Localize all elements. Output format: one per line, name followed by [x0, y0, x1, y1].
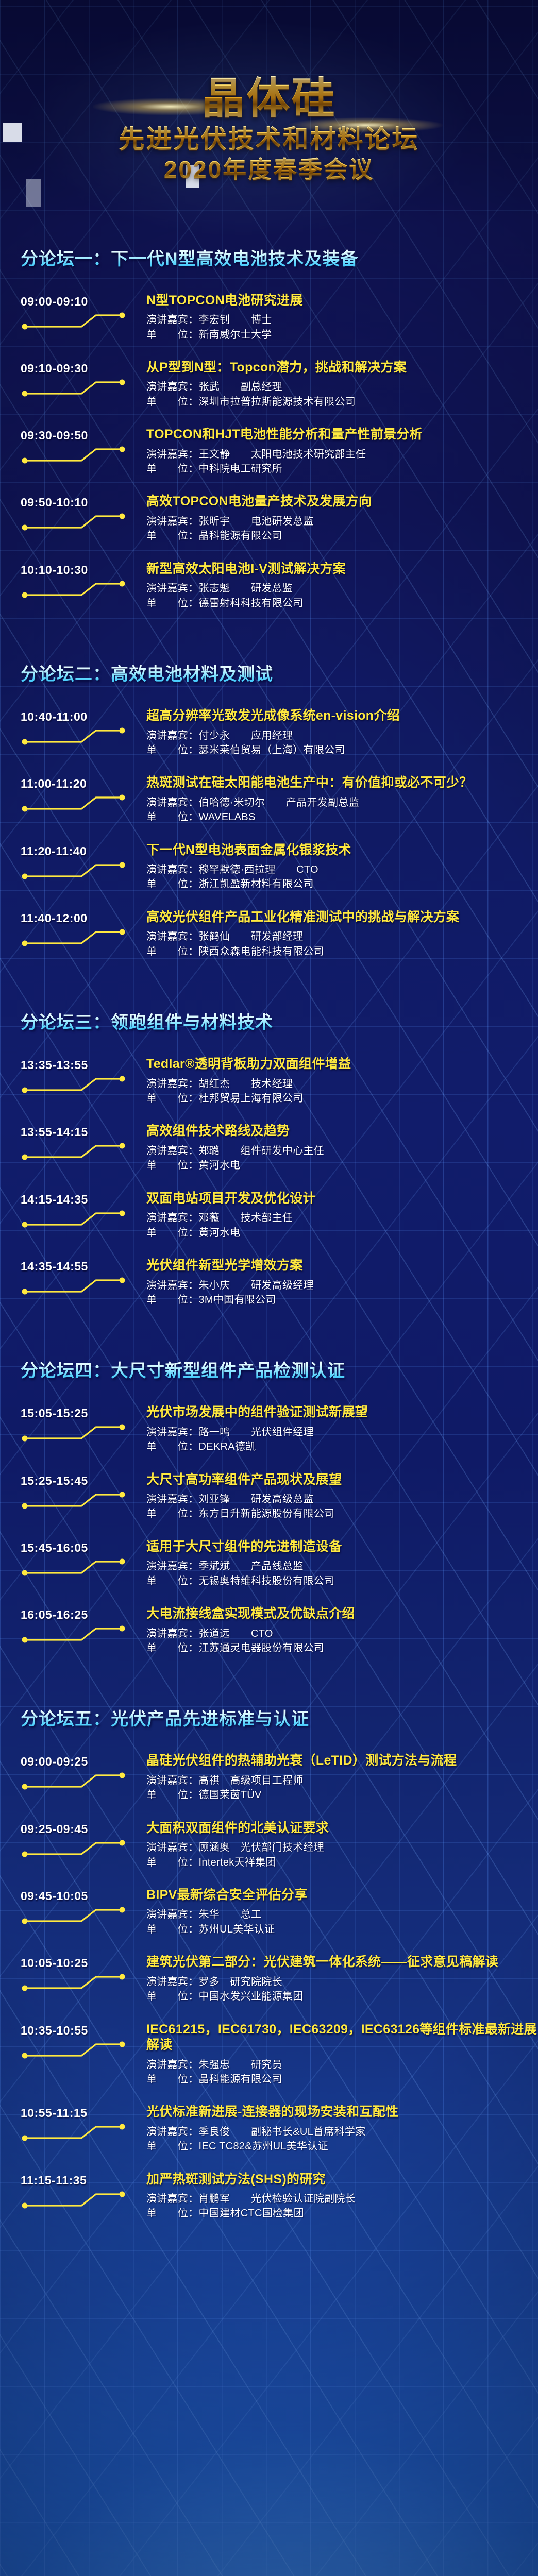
session-body: BIPV最新综合安全评估分享演讲嘉宾：朱华 总工单 位：苏州UL美华认证: [139, 1887, 538, 1937]
session-speaker: 演讲嘉宾：朱华 总工: [146, 1907, 538, 1922]
session-body: 高效光伏组件产品工业化精准测试中的挑战与解决方案演讲嘉宾：张鹤仙 研发部经理单 …: [139, 909, 538, 959]
session-time: 10:55-11:15: [21, 2104, 139, 2120]
session-speaker: 演讲嘉宾：伯哈德·米切尔 产品开发副总监: [146, 795, 538, 810]
session-meta: 演讲嘉宾：郑璐 组件研发中心主任单 位：黄河水电: [146, 1144, 538, 1173]
session-meta: 演讲嘉宾：罗多 研究院院长单 位：中国水发兴业能源集团: [146, 1975, 538, 2004]
session-speaker: 演讲嘉宾：穆罕默德·西拉理 CTO: [146, 862, 538, 877]
session-meta: 演讲嘉宾：付少永 应用经理单 位：瑟米莱伯贸易（上海）有限公司: [146, 728, 538, 758]
session-meta: 演讲嘉宾：季良俊 副秘书长&UL首席科学家单 位：IEC TC82&苏州UL美华…: [146, 2125, 538, 2154]
session-item[interactable]: 09:00-09:25晶硅光伏组件的热辅助光衰（LeTID）测试方法与流程演讲嘉…: [0, 1753, 538, 1802]
session-meta: 演讲嘉宾：肖鹏军 光伏检验认证院副院长单 位：中国建材CTC国检集团: [146, 2192, 538, 2221]
session-meta: 演讲嘉宾：朱小庆 研发高级经理单 位：3M中国有限公司: [146, 1278, 538, 1308]
session-speaker: 演讲嘉宾：季良俊 副秘书长&UL首席科学家: [146, 2125, 538, 2139]
session-time: 15:25-15:45: [21, 1472, 139, 1488]
session-organization: 单 位：WAVELABS: [146, 810, 538, 824]
session-speaker: 演讲嘉宾：李宏钊 博士: [146, 313, 538, 327]
session-time: 13:35-13:55: [21, 1056, 139, 1072]
session-body: 高效组件技术路线及趋势演讲嘉宾：郑璐 组件研发中心主任单 位：黄河水电: [139, 1123, 538, 1173]
session-meta: 演讲嘉宾：王文静 太阳电池技术研究部主任单 位：中科院电工研究所: [146, 447, 538, 477]
session-title: 高效光伏组件产品工业化精准测试中的挑战与解决方案: [146, 909, 538, 925]
session-title: 超高分辨率光致发光成像系统en-vision介绍: [146, 708, 538, 724]
session-time: 11:00-11:20: [21, 775, 139, 791]
session-title: 从P型到N型：Topcon潜力，挑战和解决方案: [146, 360, 538, 376]
session-title: 加严热斑测试方法(SHS)的研究: [146, 2172, 538, 2188]
session-time: 09:30-09:50: [21, 427, 139, 443]
session-item[interactable]: 09:25-09:45大面积双面组件的北美认证要求演讲嘉宾：顾涵奥 光伏部门技术…: [0, 1820, 538, 1870]
session-meta: 演讲嘉宾：张道远 CTO单 位：江苏通灵电器股份有限公司: [146, 1626, 538, 1656]
session-item[interactable]: 15:45-16:05适用于大尺寸组件的先进制造设备演讲嘉宾：季斌斌 产品线总监…: [0, 1539, 538, 1588]
session-item[interactable]: 15:25-15:45大尺寸高功率组件产品现状及展望演讲嘉宾：刘亚锋 研发高级总…: [0, 1472, 538, 1521]
session-body: 建筑光伏第二部分：光伏建筑一体化系统——征求意见稿解读演讲嘉宾：罗多 研究院院长…: [139, 1954, 538, 2004]
session-meta: 演讲嘉宾：高祺 高级项目工程师单 位：德国莱茵TÜV: [146, 1773, 538, 1803]
session-time: 11:40-12:00: [21, 909, 139, 925]
session-speaker: 演讲嘉宾：王文静 太阳电池技术研究部主任: [146, 447, 538, 462]
session-body: 下一代N型电池表面金属化银浆技术演讲嘉宾：穆罕默德·西拉理 CTO单 位：浙江凯…: [139, 842, 538, 892]
session-body: TOPCON和HJT电池性能分析和量产性前景分析演讲嘉宾：王文静 太阳电池技术研…: [139, 427, 538, 476]
session-body: 新型高效太阳电池I-V测试解决方案演讲嘉宾：张志魁 研发总监单 位：德雷射科科技…: [139, 561, 538, 611]
session-title: 新型高效太阳电池I-V测试解决方案: [146, 561, 538, 577]
session-item[interactable]: 09:45-10:05BIPV最新综合安全评估分享演讲嘉宾：朱华 总工单 位：苏…: [0, 1887, 538, 1937]
session-speaker: 演讲嘉宾：路一鸣 光伏组件经理: [146, 1425, 538, 1439]
session-title: 下一代N型电池表面金属化银浆技术: [146, 842, 538, 858]
session-item[interactable]: 14:15-14:35双面电站项目开发及优化设计演讲嘉宾：邓薇 技术部主任单 位…: [0, 1191, 538, 1240]
session-time: 10:05-10:25: [21, 1954, 139, 1970]
session-item[interactable]: 13:35-13:55Tedlar®透明背板助力双面组件增益演讲嘉宾：胡红杰 技…: [0, 1056, 538, 1106]
session-item[interactable]: 10:10-10:30新型高效太阳电池I-V测试解决方案演讲嘉宾：张志魁 研发总…: [0, 561, 538, 611]
agenda-list: 分论坛一：下一代N型高效电池技术及装备09:00-09:10N型TOPCON电池…: [0, 245, 538, 2221]
session-title: 高效TOPCON电池量产技术及发展方向: [146, 494, 538, 510]
session-time: 09:10-09:30: [21, 360, 139, 376]
session-body: IEC61215，IEC61730，IEC63209，IEC63126等组件标准…: [139, 2022, 538, 2087]
session-meta: 演讲嘉宾：顾涵奥 光伏部门技术经理单 位：Intertek天祥集团: [146, 1840, 538, 1870]
session-organization: 单 位：杜邦贸易上海有限公司: [146, 1091, 538, 1106]
forum-heading-1: 分论坛一：下一代N型高效电池技术及装备: [21, 245, 538, 270]
session-organization: 单 位：DEKRA德凯: [146, 1439, 538, 1454]
session-organization: 单 位：黄河水电: [146, 1158, 538, 1173]
session-speaker: 演讲嘉宾：罗多 研究院院长: [146, 1975, 538, 1989]
session-meta: 演讲嘉宾：刘亚锋 研发高级总监单 位：东方日升新能源股份有限公司: [146, 1492, 538, 1521]
session-organization: 单 位：3M中国有限公司: [146, 1293, 538, 1307]
session-title: TOPCON和HJT电池性能分析和量产性前景分析: [146, 427, 538, 443]
session-organization: 单 位：浙江凯盈新材料有限公司: [146, 877, 538, 891]
poster-title-main: 晶体硅: [0, 76, 538, 121]
session-time: 11:15-11:35: [21, 2172, 139, 2188]
forum-heading-2: 分论坛二：高效电池材料及测试: [21, 660, 538, 685]
session-title: 热斑测试在硅太阳能电池生产中：有价值抑或必不可少？: [146, 775, 538, 791]
session-speaker: 演讲嘉宾：高祺 高级项目工程师: [146, 1773, 538, 1788]
session-time: 15:05-15:25: [21, 1404, 139, 1420]
session-title: 适用于大尺寸组件的先进制造设备: [146, 1539, 538, 1555]
session-time: 14:15-14:35: [21, 1191, 139, 1207]
session-item[interactable]: 13:55-14:15高效组件技术路线及趋势演讲嘉宾：郑璐 组件研发中心主任单 …: [0, 1123, 538, 1173]
forum-heading-3: 分论坛三：领跑组件与材料技术: [21, 1008, 538, 1033]
session-time: 15:45-16:05: [21, 1539, 139, 1555]
session-title: 晶硅光伏组件的热辅助光衰（LeTID）测试方法与流程: [146, 1753, 538, 1769]
session-title: 大电流接线盒实现模式及优缺点介绍: [146, 1606, 538, 1622]
session-item[interactable]: 10:55-11:15光伏标准新进展-连接器的现场安装和互配性演讲嘉宾：季良俊 …: [0, 2104, 538, 2154]
session-item[interactable]: 10:40-11:00超高分辨率光致发光成像系统en-vision介绍演讲嘉宾：…: [0, 708, 538, 757]
session-item[interactable]: 09:10-09:30从P型到N型：Topcon潜力，挑战和解决方案演讲嘉宾：张…: [0, 360, 538, 409]
session-time: 09:25-09:45: [21, 1820, 139, 1836]
session-item[interactable]: 10:05-10:25建筑光伏第二部分：光伏建筑一体化系统——征求意见稿解读演讲…: [0, 1954, 538, 2004]
session-time: 14:35-14:55: [21, 1258, 139, 1274]
session-organization: 单 位：江苏通灵电器股份有限公司: [146, 1641, 538, 1655]
session-title: BIPV最新综合安全评估分享: [146, 1887, 538, 1903]
session-organization: 单 位：新南威尔士大学: [146, 328, 538, 342]
session-meta: 演讲嘉宾：张昕宇 电池研发总监单 位：晶科能源有限公司: [146, 514, 538, 544]
session-title: N型TOPCON电池研究进展: [146, 293, 538, 309]
session-meta: 演讲嘉宾：路一鸣 光伏组件经理单 位：DEKRA德凯: [146, 1425, 538, 1454]
session-title: 建筑光伏第二部分：光伏建筑一体化系统——征求意见稿解读: [146, 1954, 538, 1970]
session-organization: 单 位：瑟米莱伯贸易（上海）有限公司: [146, 743, 538, 757]
session-body: 晶硅光伏组件的热辅助光衰（LeTID）测试方法与流程演讲嘉宾：高祺 高级项目工程…: [139, 1753, 538, 1802]
session-speaker: 演讲嘉宾：季斌斌 产品线总监: [146, 1559, 538, 1573]
session-speaker: 演讲嘉宾：刘亚锋 研发高级总监: [146, 1492, 538, 1506]
session-item[interactable]: 11:40-12:00高效光伏组件产品工业化精准测试中的挑战与解决方案演讲嘉宾：…: [0, 909, 538, 959]
session-body: 光伏市场发展中的组件验证测试新展望演讲嘉宾：路一鸣 光伏组件经理单 位：DEKR…: [139, 1404, 538, 1454]
session-body: 热斑测试在硅太阳能电池生产中：有价值抑或必不可少？演讲嘉宾：伯哈德·米切尔 产品…: [139, 775, 538, 824]
session-title: 大面积双面组件的北美认证要求: [146, 1820, 538, 1836]
session-title: 光伏标准新进展-连接器的现场安装和互配性: [146, 2104, 538, 2120]
session-body: 高效TOPCON电池量产技术及发展方向演讲嘉宾：张昕宇 电池研发总监单 位：晶科…: [139, 494, 538, 543]
session-organization: 单 位：中科院电工研究所: [146, 462, 538, 476]
session-organization: 单 位：陕西众森电能科技有限公司: [146, 944, 538, 959]
session-organization: 单 位：晶科能源有限公司: [146, 529, 538, 543]
session-organization: 单 位：晶科能源有限公司: [146, 2072, 538, 2087]
session-organization: 单 位：IEC TC82&苏州UL美华认证: [146, 2139, 538, 2154]
session-time: 09:45-10:05: [21, 1887, 139, 1903]
session-speaker: 演讲嘉宾：邓薇 技术部主任: [146, 1211, 538, 1225]
poster-content: 晶体硅 先进光伏技术和材料论坛 2020年度春季会议 分论坛一：下一代N型高效电…: [0, 0, 538, 2221]
session-speaker: 演讲嘉宾：张昕宇 电池研发总监: [146, 514, 538, 529]
session-body: N型TOPCON电池研究进展演讲嘉宾：李宏钊 博士单 位：新南威尔士大学: [139, 293, 538, 342]
session-speaker: 演讲嘉宾：张道远 CTO: [146, 1626, 538, 1641]
session-title: 光伏市场发展中的组件验证测试新展望: [146, 1404, 538, 1420]
session-organization: 单 位：东方日升新能源股份有限公司: [146, 1506, 538, 1521]
session-speaker: 演讲嘉宾：胡红杰 技术经理: [146, 1077, 538, 1091]
session-body: 光伏组件新型光学增效方案演讲嘉宾：朱小庆 研发高级经理单 位：3M中国有限公司: [139, 1258, 538, 1307]
session-speaker: 演讲嘉宾：张志魁 研发总监: [146, 581, 538, 596]
session-body: 超高分辨率光致发光成像系统en-vision介绍演讲嘉宾：付少永 应用经理单 位…: [139, 708, 538, 757]
session-body: 大尺寸高功率组件产品现状及展望演讲嘉宾：刘亚锋 研发高级总监单 位：东方日升新能…: [139, 1472, 538, 1521]
session-organization: 单 位：德国莱茵TÜV: [146, 1788, 538, 1802]
session-organization: 单 位：中国建材CTC国检集团: [146, 2206, 538, 2221]
session-speaker: 演讲嘉宾：顾涵奥 光伏部门技术经理: [146, 1840, 538, 1855]
session-time: 10:10-10:30: [21, 561, 139, 577]
session-title: 双面电站项目开发及优化设计: [146, 1191, 538, 1207]
session-speaker: 演讲嘉宾：肖鹏军 光伏检验认证院副院长: [146, 2192, 538, 2206]
session-meta: 演讲嘉宾：张武 副总经理单 位：深圳市拉普拉斯能源技术有限公司: [146, 380, 538, 409]
session-item[interactable]: 11:00-11:20热斑测试在硅太阳能电池生产中：有价值抑或必不可少？演讲嘉宾…: [0, 775, 538, 824]
session-title: Tedlar®透明背板助力双面组件增益: [146, 1056, 538, 1072]
session-item[interactable]: 15:05-15:25光伏市场发展中的组件验证测试新展望演讲嘉宾：路一鸣 光伏组…: [0, 1404, 538, 1454]
session-body: 双面电站项目开发及优化设计演讲嘉宾：邓薇 技术部主任单 位：黄河水电: [139, 1191, 538, 1240]
session-title: IEC61215，IEC61730，IEC63209，IEC63126等组件标准…: [146, 2022, 538, 2053]
session-time: 09:00-09:25: [21, 1753, 139, 1769]
session-meta: 演讲嘉宾：季斌斌 产品线总监单 位：无锡奥特维科技股份有限公司: [146, 1559, 538, 1588]
forum-heading-5: 分论坛五：光伏产品先进标准与认证: [21, 1705, 538, 1730]
session-speaker: 演讲嘉宾：郑璐 组件研发中心主任: [146, 1144, 538, 1158]
session-title: 光伏组件新型光学增效方案: [146, 1258, 538, 1274]
session-organization: 单 位：无锡奥特维科技股份有限公司: [146, 1574, 538, 1588]
session-meta: 演讲嘉宾：朱华 总工单 位：苏州UL美华认证: [146, 1907, 538, 1937]
session-body: 光伏标准新进展-连接器的现场安装和互配性演讲嘉宾：季良俊 副秘书长&UL首席科学…: [139, 2104, 538, 2154]
session-organization: 单 位：Intertek天祥集团: [146, 1855, 538, 1870]
forum-heading-4: 分论坛四：大尺寸新型组件产品检测认证: [21, 1357, 538, 1382]
session-time: 10:35-10:55: [21, 2022, 139, 2038]
session-meta: 演讲嘉宾：朱强忠 研究员单 位：晶科能源有限公司: [146, 2058, 538, 2087]
session-time: 16:05-16:25: [21, 1606, 139, 1622]
session-item[interactable]: 09:50-10:10高效TOPCON电池量产技术及发展方向演讲嘉宾：张昕宇 电…: [0, 494, 538, 543]
session-item[interactable]: 14:35-14:55光伏组件新型光学增效方案演讲嘉宾：朱小庆 研发高级经理单 …: [0, 1258, 538, 1307]
session-meta: 演讲嘉宾：胡红杰 技术经理单 位：杜邦贸易上海有限公司: [146, 1077, 538, 1106]
session-body: 大面积双面组件的北美认证要求演讲嘉宾：顾涵奥 光伏部门技术经理单 位：Inter…: [139, 1820, 538, 1870]
session-speaker: 演讲嘉宾：朱强忠 研究员: [146, 2058, 538, 2072]
poster-title-sub: 先进光伏技术和材料论坛: [0, 124, 538, 155]
session-body: 从P型到N型：Topcon潜力，挑战和解决方案演讲嘉宾：张武 副总经理单 位：深…: [139, 360, 538, 409]
session-body: Tedlar®透明背板助力双面组件增益演讲嘉宾：胡红杰 技术经理单 位：杜邦贸易…: [139, 1056, 538, 1106]
session-time: 09:50-10:10: [21, 494, 139, 510]
session-organization: 单 位：苏州UL美华认证: [146, 1922, 538, 1937]
session-speaker: 演讲嘉宾：付少永 应用经理: [146, 728, 538, 743]
session-time: 13:55-14:15: [21, 1123, 139, 1139]
session-item[interactable]: 11:20-11:40下一代N型电池表面金属化银浆技术演讲嘉宾：穆罕默德·西拉理…: [0, 842, 538, 892]
session-speaker: 演讲嘉宾：张武 副总经理: [146, 380, 538, 394]
session-item[interactable]: 09:30-09:50TOPCON和HJT电池性能分析和量产性前景分析演讲嘉宾：…: [0, 427, 538, 476]
session-body: 加严热斑测试方法(SHS)的研究演讲嘉宾：肖鹏军 光伏检验认证院副院长单 位：中…: [139, 2172, 538, 2221]
session-item[interactable]: 16:05-16:25大电流接线盒实现模式及优缺点介绍演讲嘉宾：张道远 CTO单…: [0, 1606, 538, 1655]
session-meta: 演讲嘉宾：穆罕默德·西拉理 CTO单 位：浙江凯盈新材料有限公司: [146, 862, 538, 892]
session-meta: 演讲嘉宾：李宏钊 博士单 位：新南威尔士大学: [146, 313, 538, 342]
session-organization: 单 位：深圳市拉普拉斯能源技术有限公司: [146, 395, 538, 409]
poster-title-block: 晶体硅 先进光伏技术和材料论坛 2020年度春季会议: [0, 0, 538, 184]
session-speaker: 演讲嘉宾：朱小庆 研发高级经理: [146, 1278, 538, 1293]
session-speaker: 演讲嘉宾：张鹤仙 研发部经理: [146, 929, 538, 944]
session-title: 大尺寸高功率组件产品现状及展望: [146, 1472, 538, 1488]
session-time: 11:20-11:40: [21, 842, 139, 858]
session-meta: 演讲嘉宾：伯哈德·米切尔 产品开发副总监单 位：WAVELABS: [146, 795, 538, 825]
session-body: 适用于大尺寸组件的先进制造设备演讲嘉宾：季斌斌 产品线总监单 位：无锡奥特维科技…: [139, 1539, 538, 1588]
session-meta: 演讲嘉宾：张志魁 研发总监单 位：德雷射科科技有限公司: [146, 581, 538, 611]
session-item[interactable]: 09:00-09:10N型TOPCON电池研究进展演讲嘉宾：李宏钊 博士单 位：…: [0, 293, 538, 342]
session-organization: 单 位：黄河水电: [146, 1226, 538, 1240]
session-body: 大电流接线盒实现模式及优缺点介绍演讲嘉宾：张道远 CTO单 位：江苏通灵电器股份…: [139, 1606, 538, 1655]
session-item[interactable]: 10:35-10:55IEC61215，IEC61730，IEC63209，IE…: [0, 2022, 538, 2087]
session-organization: 单 位：德雷射科科技有限公司: [146, 596, 538, 611]
session-time: 09:00-09:10: [21, 293, 139, 309]
session-title: 高效组件技术路线及趋势: [146, 1123, 538, 1139]
session-meta: 演讲嘉宾：张鹤仙 研发部经理单 位：陕西众森电能科技有限公司: [146, 929, 538, 959]
poster-title-year: 2020年度春季会议: [0, 156, 538, 183]
session-organization: 单 位：中国水发兴业能源集团: [146, 1989, 538, 2004]
session-item[interactable]: 11:15-11:35加严热斑测试方法(SHS)的研究演讲嘉宾：肖鹏军 光伏检验…: [0, 2172, 538, 2221]
session-meta: 演讲嘉宾：邓薇 技术部主任单 位：黄河水电: [146, 1211, 538, 1240]
session-time: 10:40-11:00: [21, 708, 139, 724]
